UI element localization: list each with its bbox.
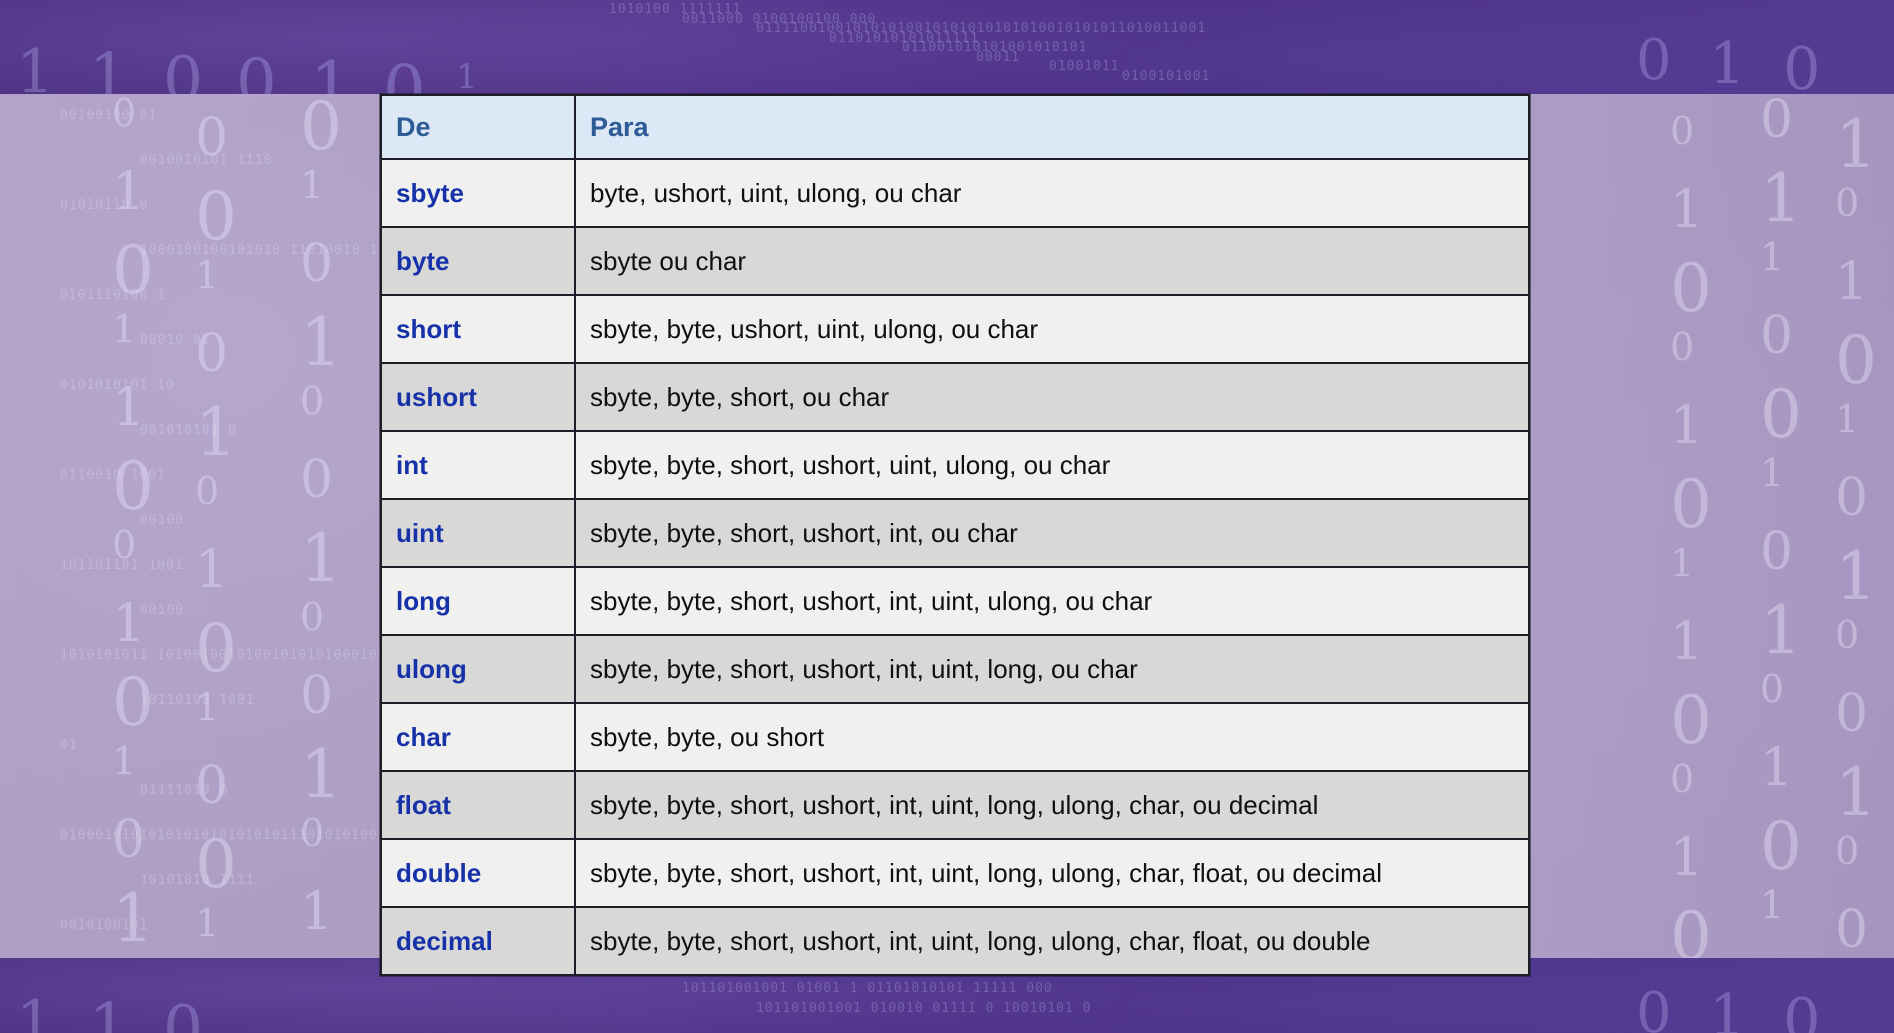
binary-digit-decoration: 1 bbox=[1760, 166, 1802, 232]
cell-from-type: float bbox=[381, 771, 575, 839]
table-header-row: De Para bbox=[381, 95, 1529, 159]
binary-digit-decoration: 0 bbox=[1835, 832, 1859, 870]
table-row: decimalsbyte, byte, short, ushort, int, … bbox=[381, 907, 1529, 975]
binary-digit-decoration: 0 bbox=[195, 184, 237, 250]
binary-digit-decoration: 1 bbox=[1835, 400, 1859, 438]
binary-digit-decoration: 1 bbox=[1835, 256, 1868, 308]
binary-digit-decoration: 1 bbox=[1835, 544, 1877, 610]
binary-digit-decoration: 1 bbox=[310, 54, 352, 94]
binary-digit-decoration: 1 bbox=[1709, 988, 1745, 1033]
binary-digit-decoration: 0 bbox=[1670, 760, 1694, 798]
binary-digit-decoration: 0 bbox=[163, 48, 203, 94]
binary-text-decoration: 0101010101 10 bbox=[60, 378, 175, 393]
binary-digit-decoration: 0 bbox=[300, 382, 324, 420]
binary-text-decoration: 0100101001 bbox=[1122, 69, 1210, 84]
cell-from-type: ushort bbox=[381, 363, 575, 431]
binary-text-decoration: 1010101011 101001001010010101010001001 bbox=[60, 648, 395, 663]
binary-digit-decoration: 1 bbox=[300, 742, 342, 808]
binary-text-decoration: 0111100100101010100101010101010100101010… bbox=[756, 21, 1206, 36]
binary-digit-decoration: 1 bbox=[300, 526, 342, 592]
table-row: bytesbyte ou char bbox=[381, 227, 1529, 295]
background-band-top: 1010100 11111110011000 0100100100 000011… bbox=[0, 0, 1894, 94]
binary-digit-decoration: 0 bbox=[1835, 328, 1877, 394]
column-header-de: De bbox=[381, 95, 575, 159]
cell-from-type: uint bbox=[381, 499, 575, 567]
binary-digit-decoration: 0 bbox=[1835, 472, 1868, 524]
binary-digit-decoration: 1 bbox=[300, 166, 324, 204]
binary-digit-decoration: 0 bbox=[1835, 616, 1859, 654]
implicit-conversions-table: De Para sbytebyte, ushort, uint, ulong, … bbox=[380, 94, 1530, 976]
binary-text-decoration: 1010100 1111111 bbox=[609, 2, 741, 17]
binary-text-decoration: 0110010 1001 bbox=[60, 468, 166, 483]
binary-text-decoration: 0011000 0100100100 000 bbox=[682, 12, 876, 27]
binary-digit-decoration: 0 bbox=[195, 760, 228, 812]
binary-digit-decoration: 1 bbox=[1760, 238, 1784, 276]
binary-digit-decoration: 0 bbox=[300, 238, 333, 290]
binary-digit-decoration: 1 bbox=[112, 166, 145, 218]
binary-digit-decoration: 1 bbox=[1760, 886, 1784, 924]
binary-text-decoration: 00100 bbox=[140, 603, 184, 618]
binary-digit-decoration: 0 bbox=[1760, 94, 1793, 146]
binary-digit-decoration: 0 bbox=[1670, 112, 1694, 150]
binary-digit-decoration: 1 bbox=[1835, 760, 1877, 826]
binary-digit-decoration: 0 bbox=[1670, 256, 1712, 322]
cell-target-types: sbyte, byte, short, ou char bbox=[575, 363, 1529, 431]
binary-text-decoration: 1000100100101010 11010010 10 bbox=[140, 243, 387, 258]
cell-from-type: ulong bbox=[381, 635, 575, 703]
binary-digit-decoration: 0 bbox=[112, 454, 154, 520]
binary-digit-decoration: 1 bbox=[195, 544, 228, 596]
binary-digit-decoration: 0 bbox=[1670, 472, 1712, 538]
table-row: shortsbyte, byte, ushort, uint, ulong, o… bbox=[381, 295, 1529, 363]
binary-digit-decoration: 0 bbox=[1783, 39, 1821, 94]
cell-target-types: sbyte, byte, ou short bbox=[575, 703, 1529, 771]
binary-digit-decoration: 1 bbox=[112, 742, 136, 780]
cell-from-type: short bbox=[381, 295, 575, 363]
cell-target-types: sbyte, byte, short, ushort, uint, ulong,… bbox=[575, 431, 1529, 499]
binary-text-decoration: 01111010 0 bbox=[140, 783, 228, 798]
table-body: sbytebyte, ushort, uint, ulong, ou charb… bbox=[381, 159, 1529, 975]
binary-text-decoration: 01 bbox=[60, 738, 78, 753]
binary-digit-decoration: 0 bbox=[163, 997, 203, 1033]
table-row: ulongsbyte, byte, short, ushort, int, ui… bbox=[381, 635, 1529, 703]
binary-digit-decoration: 1 bbox=[1760, 742, 1793, 794]
binary-text-decoration: 01010110 0 bbox=[60, 198, 148, 213]
binary-digit-decoration: 1 bbox=[16, 993, 54, 1033]
binary-digit-decoration: 1 bbox=[195, 256, 219, 294]
column-header-para: Para bbox=[575, 95, 1529, 159]
binary-digit-decoration: 0 bbox=[1636, 986, 1672, 1033]
binary-digit-decoration: 1 bbox=[89, 45, 128, 94]
binary-digit-decoration: 1 bbox=[112, 310, 136, 348]
cell-target-types: sbyte, byte, short, ushort, int, uint, l… bbox=[575, 635, 1529, 703]
binary-digit-decoration: 0 bbox=[1835, 904, 1868, 956]
slide-canvas: 1010100 11111110011000 0100100100 000011… bbox=[0, 0, 1894, 1033]
cell-from-type: byte bbox=[381, 227, 575, 295]
cell-target-types: sbyte, byte, short, ushort, int, uint, l… bbox=[575, 907, 1529, 975]
binary-text-decoration: 01001011 bbox=[1049, 59, 1120, 74]
binary-digit-decoration: 1 bbox=[16, 42, 54, 94]
cell-from-type: char bbox=[381, 703, 575, 771]
binary-text-decoration: 010001010101010101010101011101010100 000… bbox=[60, 828, 431, 843]
binary-text-decoration: 001010101 0 bbox=[140, 423, 237, 438]
cell-target-types: sbyte, byte, ushort, uint, ulong, ou cha… bbox=[575, 295, 1529, 363]
table-row: longsbyte, byte, short, ushort, int, uin… bbox=[381, 567, 1529, 635]
binary-digit-decoration: 1 bbox=[112, 598, 145, 650]
binary-digit-decoration: 0 bbox=[236, 51, 277, 94]
binary-digit-decoration: 0 bbox=[1835, 688, 1868, 740]
binary-text-decoration: 01101010101011111 bbox=[829, 31, 979, 46]
binary-text-decoration: 10101010 1111 bbox=[140, 873, 255, 888]
cell-from-type: sbyte bbox=[381, 159, 575, 227]
binary-digit-decoration: 1 bbox=[300, 886, 333, 938]
binary-digit-decoration: 0 bbox=[1760, 814, 1802, 880]
table-row: charsbyte, byte, ou short bbox=[381, 703, 1529, 771]
binary-digit-decoration: 0 bbox=[112, 238, 154, 304]
binary-digit-decoration: 1 bbox=[89, 995, 128, 1033]
binary-digit-decoration: 0 bbox=[1760, 310, 1793, 362]
binary-text-decoration: 101101101 1001 bbox=[60, 558, 184, 573]
binary-digit-decoration: 0 bbox=[112, 94, 136, 132]
binary-digit-decoration: 1 bbox=[1670, 832, 1703, 884]
binary-digit-decoration: 0 bbox=[195, 472, 219, 510]
binary-text-decoration: 101101001001 010010 01111 0 10010101 0 bbox=[756, 1001, 1091, 1016]
binary-digit-decoration: 0 bbox=[300, 670, 333, 722]
binary-digit-decoration: 0 bbox=[112, 670, 154, 736]
binary-digit-decoration: 1 bbox=[1760, 598, 1802, 664]
binary-digit-decoration: 1 bbox=[195, 400, 237, 466]
cell-from-type: long bbox=[381, 567, 575, 635]
binary-digit-decoration: 0 bbox=[1636, 33, 1672, 89]
binary-digit-decoration: 0 bbox=[112, 814, 145, 866]
binary-digit-decoration: 0 bbox=[1760, 526, 1793, 578]
cell-target-types: sbyte, byte, short, ushort, int, uint, l… bbox=[575, 771, 1529, 839]
binary-digit-decoration: 1 bbox=[1670, 400, 1703, 452]
cell-from-type: decimal bbox=[381, 907, 575, 975]
cell-target-types: sbyte, byte, short, ushort, int, uint, l… bbox=[575, 839, 1529, 907]
binary-digit-decoration: 1 bbox=[195, 904, 219, 942]
binary-digit-decoration: 0 bbox=[195, 616, 237, 682]
binary-text-decoration: 00100 bbox=[140, 513, 184, 528]
binary-text-decoration: 00010 01 bbox=[140, 333, 211, 348]
binary-text-decoration: 0010100101 bbox=[60, 918, 148, 933]
binary-digit-decoration: 1 bbox=[300, 310, 342, 376]
binary-digit-decoration: 1 bbox=[1670, 616, 1703, 668]
table-row: sbytebyte, ushort, uint, ulong, ou char bbox=[381, 159, 1529, 227]
cell-target-types: sbyte, byte, short, ushort, int, uint, u… bbox=[575, 567, 1529, 635]
binary-text-decoration: 00011 bbox=[976, 50, 1020, 65]
binary-digit-decoration: 0 bbox=[300, 94, 342, 160]
binary-digit-decoration: 0 bbox=[195, 328, 228, 380]
binary-digit-decoration: 0 bbox=[300, 454, 333, 506]
binary-text-decoration: 101101001001 01001 1 01101010101 11111 0… bbox=[682, 981, 1053, 996]
table-row: doublesbyte, byte, short, ushort, int, u… bbox=[381, 839, 1529, 907]
binary-text-decoration: 10110100 1001 bbox=[140, 693, 255, 708]
table-row: intsbyte, byte, short, ushort, uint, ulo… bbox=[381, 431, 1529, 499]
binary-digit-decoration: 0 bbox=[1670, 328, 1694, 366]
binary-digit-decoration: 0 bbox=[1670, 904, 1712, 958]
binary-digit-decoration: 0 bbox=[383, 57, 426, 94]
binary-text-decoration: 00100100 01 bbox=[60, 108, 157, 123]
binary-digit-decoration: 1 bbox=[112, 886, 154, 952]
binary-digit-decoration: 1 bbox=[456, 60, 478, 94]
table-row: floatsbyte, byte, short, ushort, int, ui… bbox=[381, 771, 1529, 839]
binary-digit-decoration: 1 bbox=[112, 382, 145, 434]
binary-digit-decoration: 0 bbox=[300, 598, 324, 636]
binary-digit-decoration: 0 bbox=[1783, 990, 1821, 1033]
binary-digit-decoration: 0 bbox=[195, 832, 237, 898]
cell-target-types: byte, ushort, uint, ulong, ou char bbox=[575, 159, 1529, 227]
table-row: uintsbyte, byte, short, ushort, int, ou … bbox=[381, 499, 1529, 567]
binary-digit-decoration: 0 bbox=[1760, 670, 1784, 708]
binary-digit-decoration: 1 bbox=[1670, 544, 1694, 582]
cell-target-types: sbyte ou char bbox=[575, 227, 1529, 295]
binary-digit-decoration: 1 bbox=[1835, 112, 1877, 178]
binary-text-decoration: 0101110100 1 bbox=[60, 288, 166, 303]
binary-digit-decoration: 0 bbox=[1760, 382, 1802, 448]
cell-from-type: int bbox=[381, 431, 575, 499]
table-row: ushortsbyte, byte, short, ou char bbox=[381, 363, 1529, 431]
binary-digit-decoration: 1 bbox=[1709, 36, 1745, 93]
binary-digit-decoration: 1 bbox=[1670, 184, 1703, 236]
cell-from-type: double bbox=[381, 839, 575, 907]
binary-digit-decoration: 0 bbox=[112, 526, 136, 564]
binary-digit-decoration: 0 bbox=[195, 112, 228, 164]
binary-digit-decoration: 0 bbox=[1835, 184, 1859, 222]
binary-digit-decoration: 0 bbox=[1670, 688, 1712, 754]
binary-digit-decoration: 1 bbox=[1760, 454, 1784, 492]
binary-digit-decoration: 1 bbox=[195, 688, 219, 726]
cell-target-types: sbyte, byte, short, ushort, int, ou char bbox=[575, 499, 1529, 567]
binary-text-decoration: 0010010101 1110 bbox=[140, 153, 272, 168]
binary-text-decoration: 011001010101001010101 bbox=[902, 40, 1087, 55]
binary-digit-decoration: 0 bbox=[300, 814, 324, 852]
